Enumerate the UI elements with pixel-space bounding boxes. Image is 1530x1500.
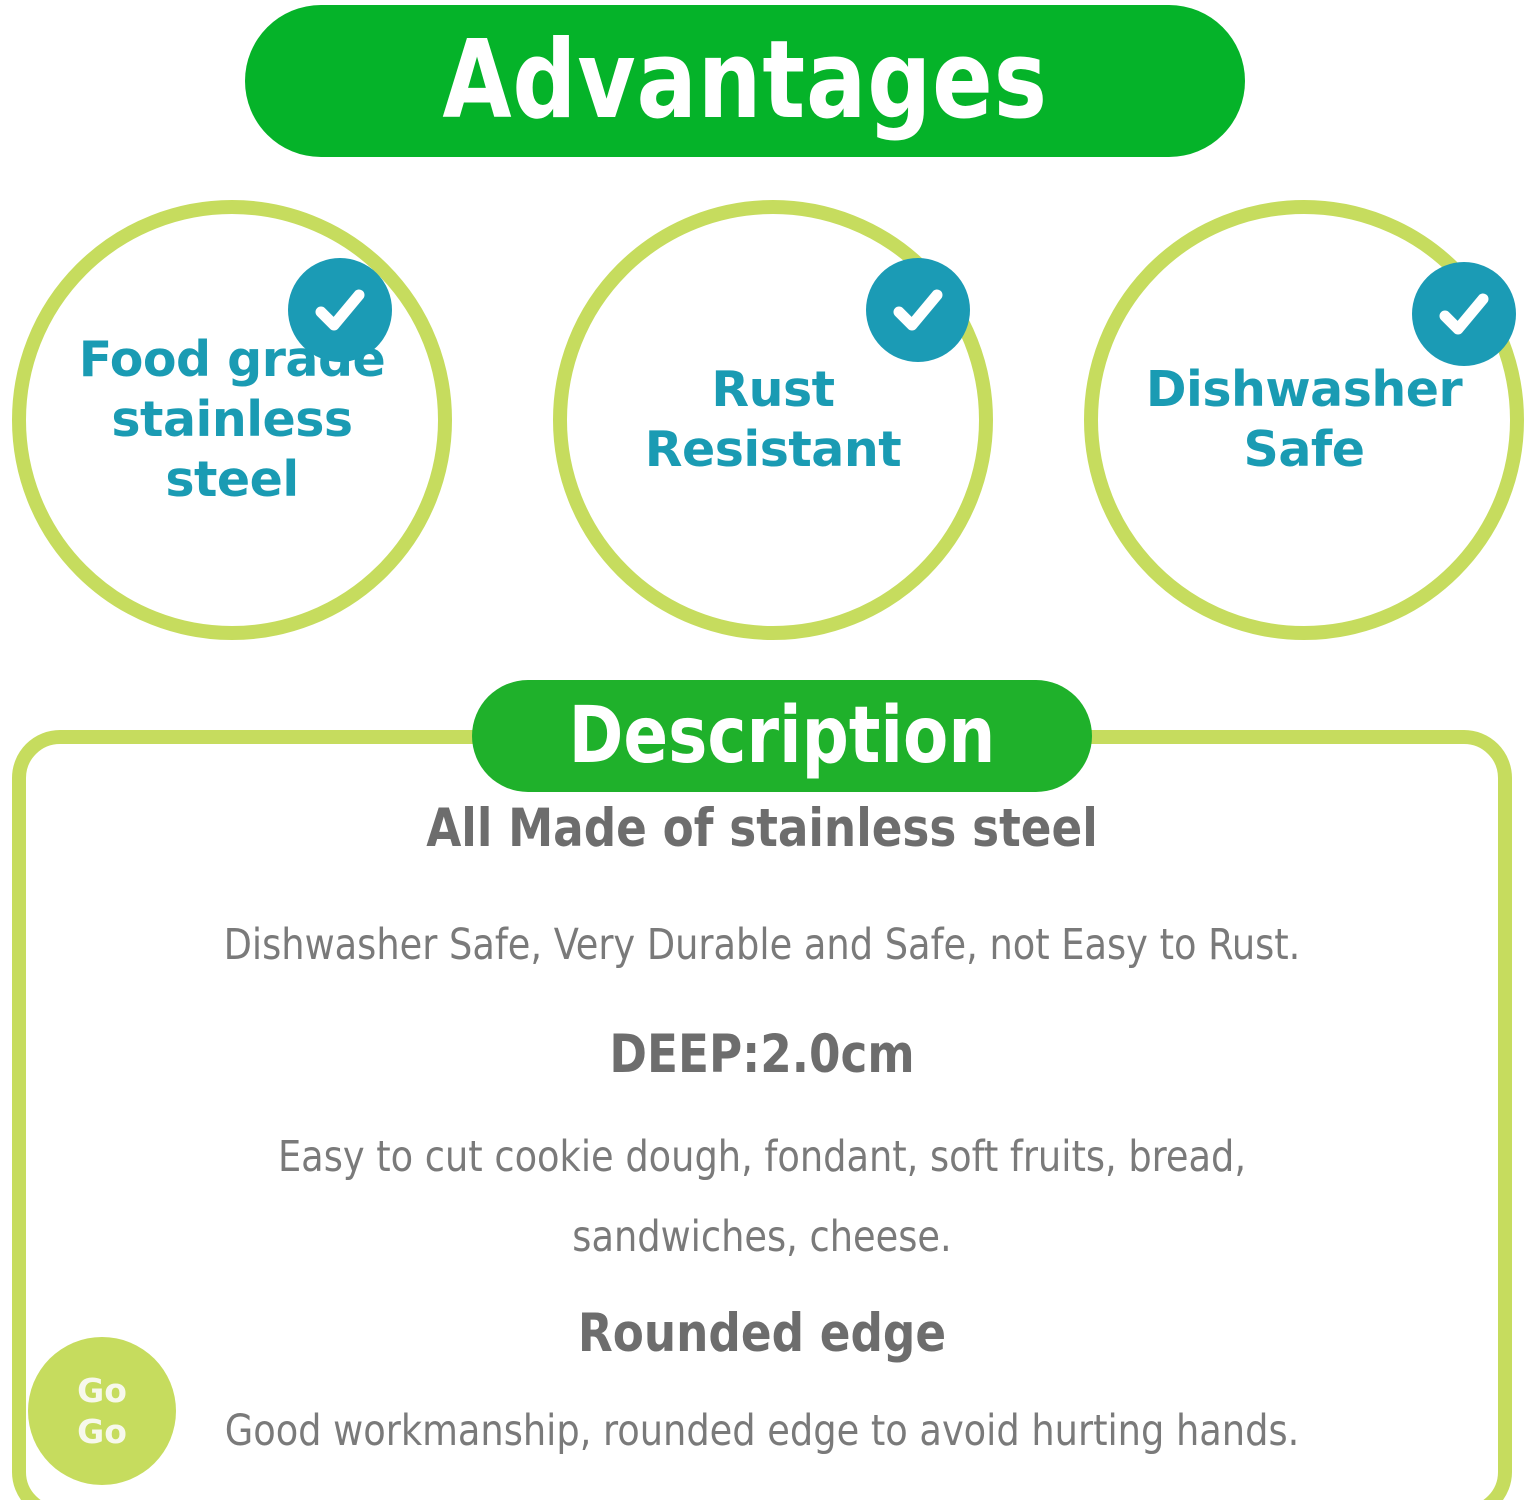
feature-label-rust-resistant: Rust Resistant xyxy=(573,360,973,480)
description-title: Description xyxy=(569,697,996,775)
description-heading-1: All Made of stainless steel xyxy=(50,800,1475,858)
description-banner: Description xyxy=(472,680,1092,792)
feature-label-line: Dishwasher xyxy=(1098,360,1510,420)
advantages-title: Advantages xyxy=(442,27,1048,135)
gogo-logo-line-1: Go xyxy=(77,1370,127,1411)
check-icon xyxy=(887,279,949,341)
check-icon xyxy=(309,279,371,341)
description-body-2-line-1: Easy to cut cookie dough, fondant, soft … xyxy=(50,1118,1475,1198)
description-body-2-line-2: sandwiches, cheese. xyxy=(50,1198,1475,1278)
product-advantages-infographic: Advantages Food grade stainless steel Ru… xyxy=(0,0,1530,1500)
feature-label-line: Safe xyxy=(1098,420,1510,480)
check-icon-badge-food-grade xyxy=(288,258,392,362)
feature-circle-food-grade-stainless-steel: Food grade stainless steel xyxy=(12,200,452,640)
description-heading-2: DEEP:2.0cm xyxy=(50,1026,1475,1084)
feature-label-dishwasher-safe: Dishwasher Safe xyxy=(1098,360,1510,480)
gogo-logo: Go Go xyxy=(28,1337,176,1485)
feature-label-line: stainless xyxy=(32,390,432,450)
feature-label-line: steel xyxy=(32,450,432,510)
feature-circles-row: Food grade stainless steel Rust Resistan… xyxy=(0,200,1530,655)
check-icon-badge-rust-resistant xyxy=(866,258,970,362)
feature-label-food-grade: Food grade stainless steel xyxy=(32,330,432,509)
feature-label-line: Resistant xyxy=(573,420,973,480)
description-heading-3: Rounded edge xyxy=(50,1305,1475,1363)
feature-label-line: Rust xyxy=(573,360,973,420)
gogo-logo-line-2: Go xyxy=(77,1411,127,1452)
description-content: All Made of stainless steel Dishwasher S… xyxy=(12,800,1512,1471)
check-icon-badge-dishwasher-safe xyxy=(1412,262,1516,366)
description-body-3: Good workmanship, rounded edge to avoid … xyxy=(50,1392,1475,1472)
description-body-1: Dishwasher Safe, Very Durable and Safe, … xyxy=(50,906,1475,986)
check-icon xyxy=(1433,283,1495,345)
advantages-banner: Advantages xyxy=(245,5,1245,157)
